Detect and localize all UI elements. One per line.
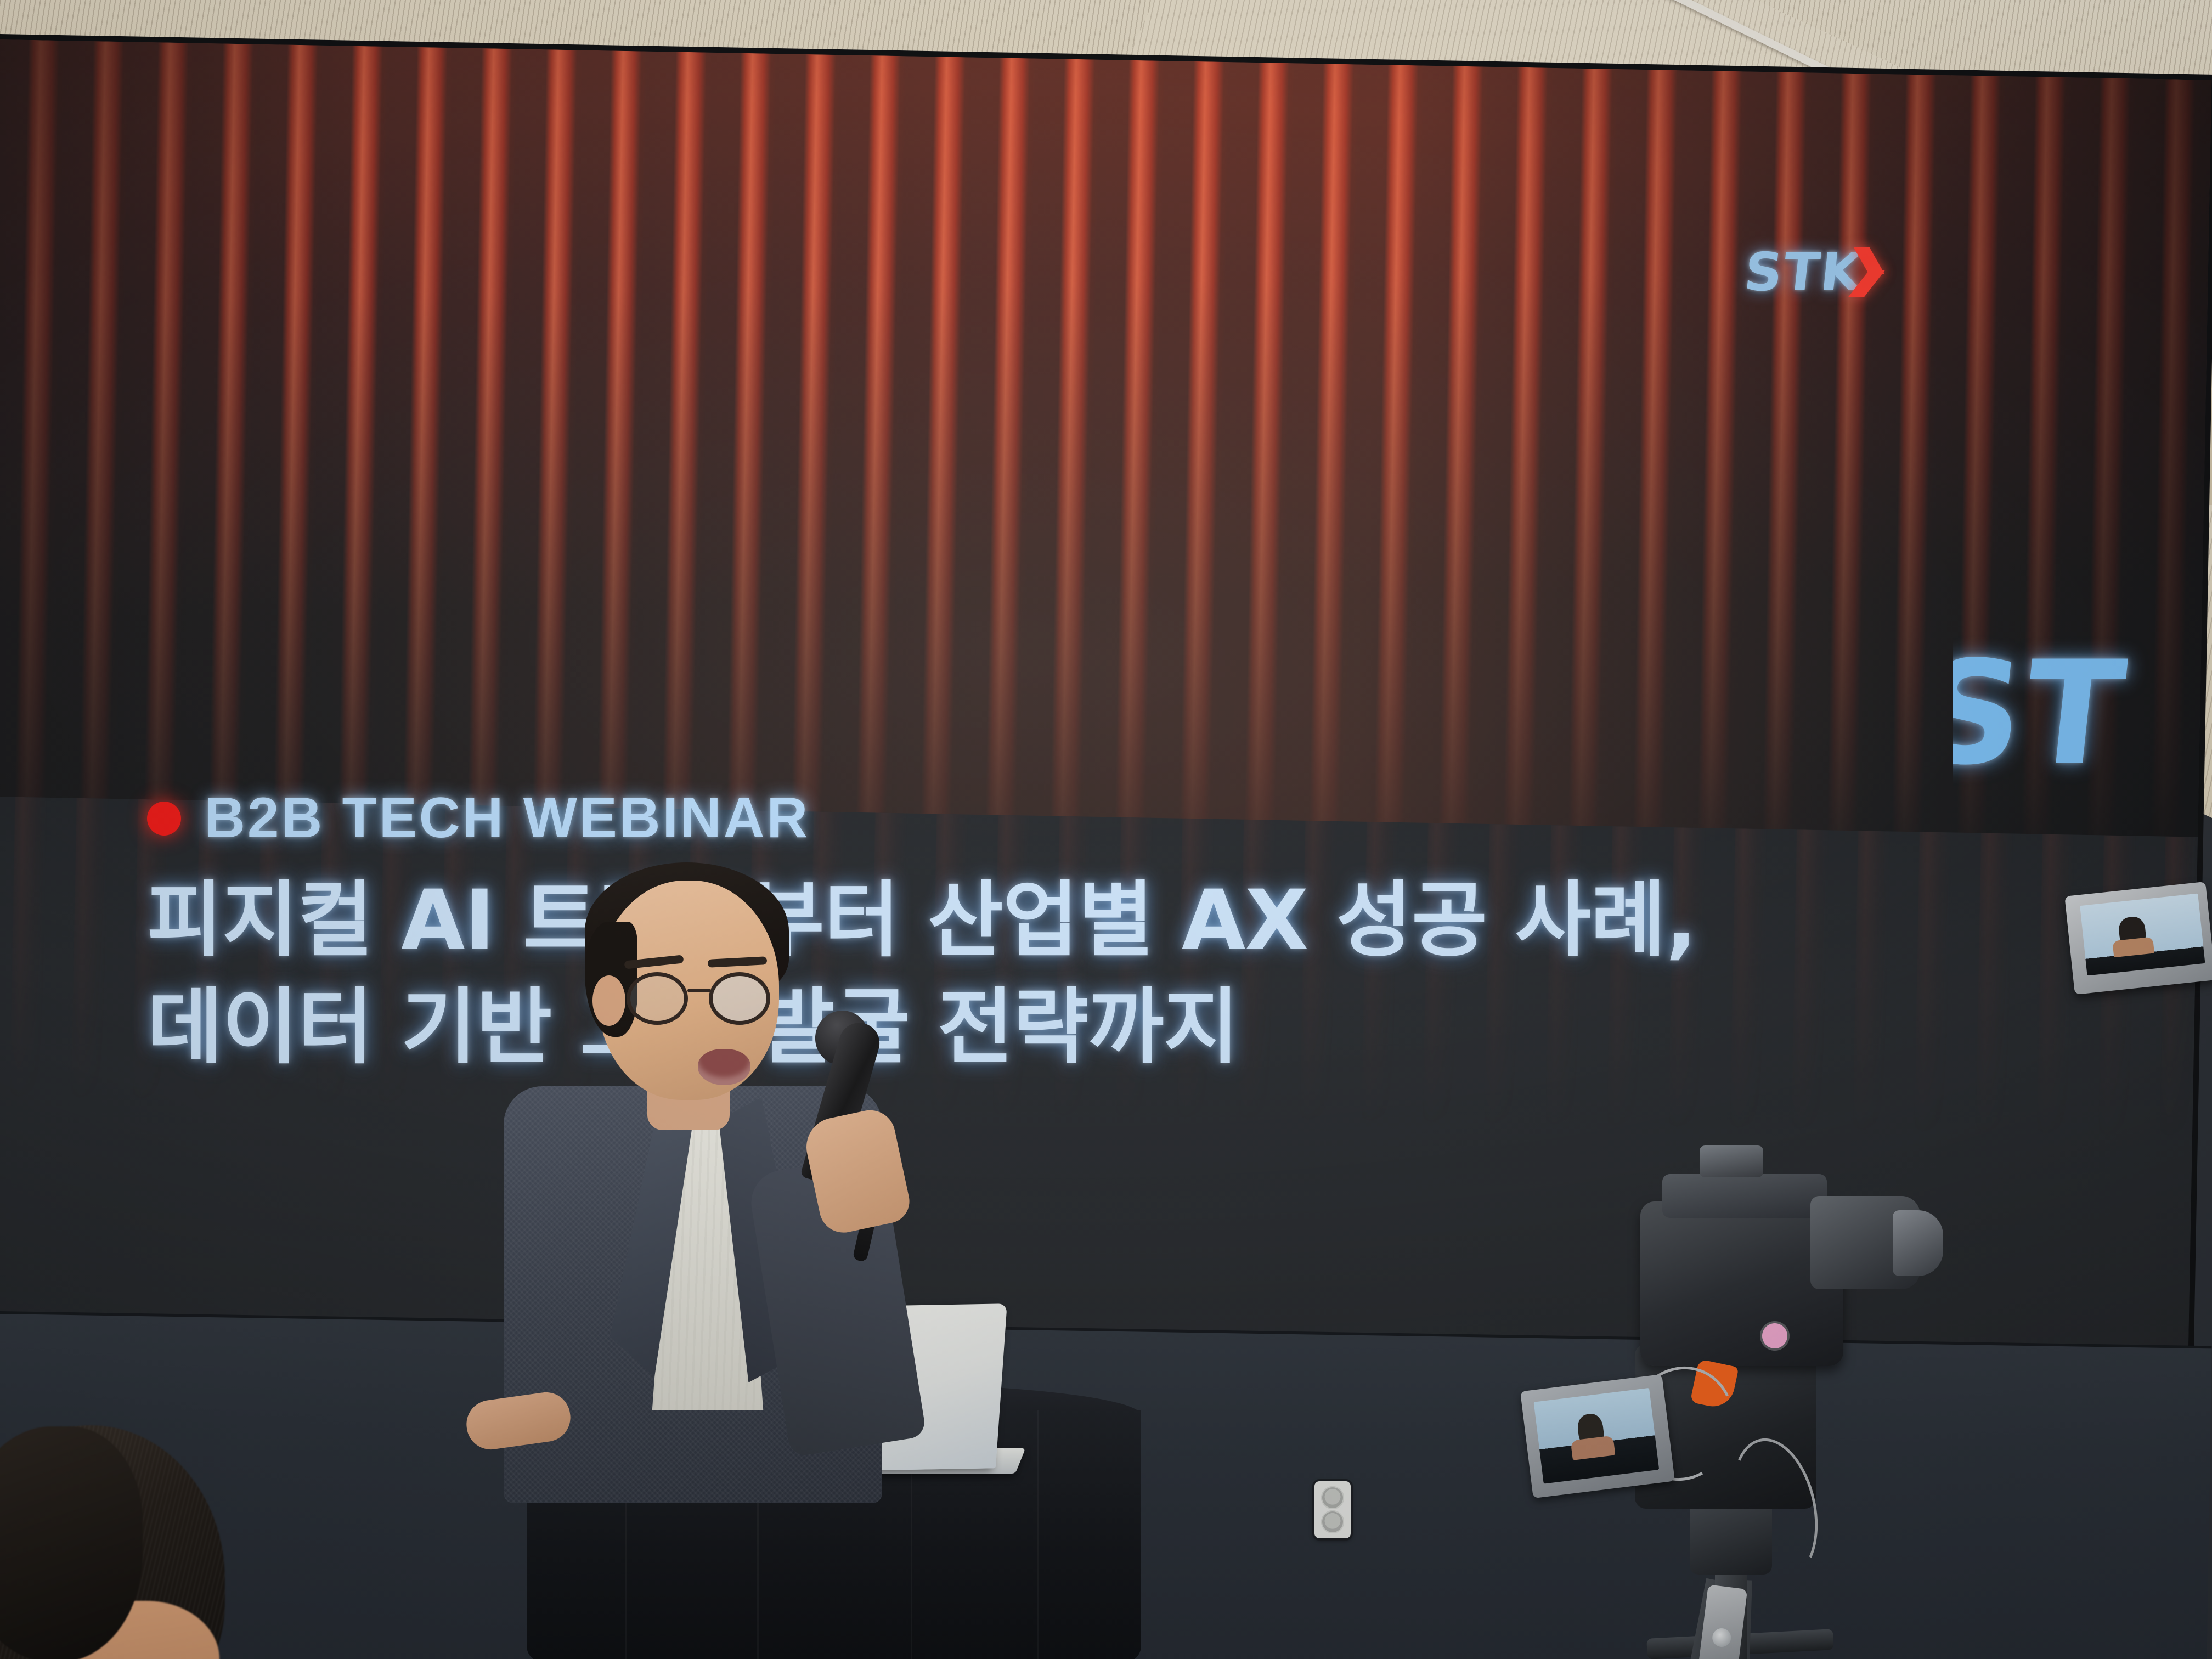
audience-member-hair	[0, 1426, 143, 1659]
camera-arm-monitor[interactable]	[2064, 882, 2212, 995]
camera-lens	[1893, 1210, 1943, 1276]
secondary-screen-wordmark: ST	[1953, 631, 2135, 797]
camera-tripod-rig	[1553, 1108, 1948, 1659]
lcd-preview-body	[1571, 1436, 1616, 1460]
glasses-lens-left	[627, 972, 688, 1025]
cloth-fold	[1037, 1410, 1039, 1659]
glasses-lens-right	[709, 972, 770, 1025]
record-dot-icon	[147, 802, 181, 836]
slide-headline-line-2: 데이터 기반 고객 발굴 전략까지	[147, 974, 1793, 1081]
camera-top-plate	[1662, 1174, 1827, 1218]
stk-wordmark: STK	[1742, 246, 1865, 298]
camera-sticker-icon	[1762, 1323, 1787, 1348]
slide-headline-line-1: 피지컬 AI 트렌드부터 산업별 AX 성공 사례,	[147, 867, 1793, 974]
chevron-right-icon	[1867, 248, 1899, 296]
slide-headline: 피지컬 AI 트렌드부터 산업별 AX 성공 사례, 데이터 기반 고객 발굴 …	[147, 867, 1793, 1081]
presenter-ear	[592, 975, 625, 1026]
camera-flip-lcd[interactable]	[1520, 1374, 1675, 1498]
double-socket-outlet	[1314, 1481, 1351, 1538]
secondary-led-screen: ST	[1953, 598, 2212, 905]
slide-kicker-label: B2B TECH WEBINAR	[204, 786, 810, 851]
glasses-icon	[627, 972, 786, 1025]
camera-lcd-screen	[1534, 1388, 1660, 1484]
stk-logo: STK	[1742, 246, 1899, 298]
slide-kicker: B2B TECH WEBINAR	[147, 786, 1793, 851]
glasses-bridge	[687, 989, 710, 992]
presenter	[483, 856, 911, 1503]
slide-text-block: B2B TECH WEBINAR 피지컬 AI 트렌드부터 산업별 AX 성공 …	[147, 786, 1793, 1081]
monitor-preview-body	[2112, 937, 2154, 958]
camera-hotshoe	[1700, 1145, 1763, 1177]
presenter-mouth	[698, 1049, 751, 1085]
camera-arm-monitor-screen	[2080, 894, 2205, 976]
photo-scene: STK B2B TECH WEBINAR 피지컬 AI 트렌드부터 산업별 AX…	[0, 0, 2212, 1659]
